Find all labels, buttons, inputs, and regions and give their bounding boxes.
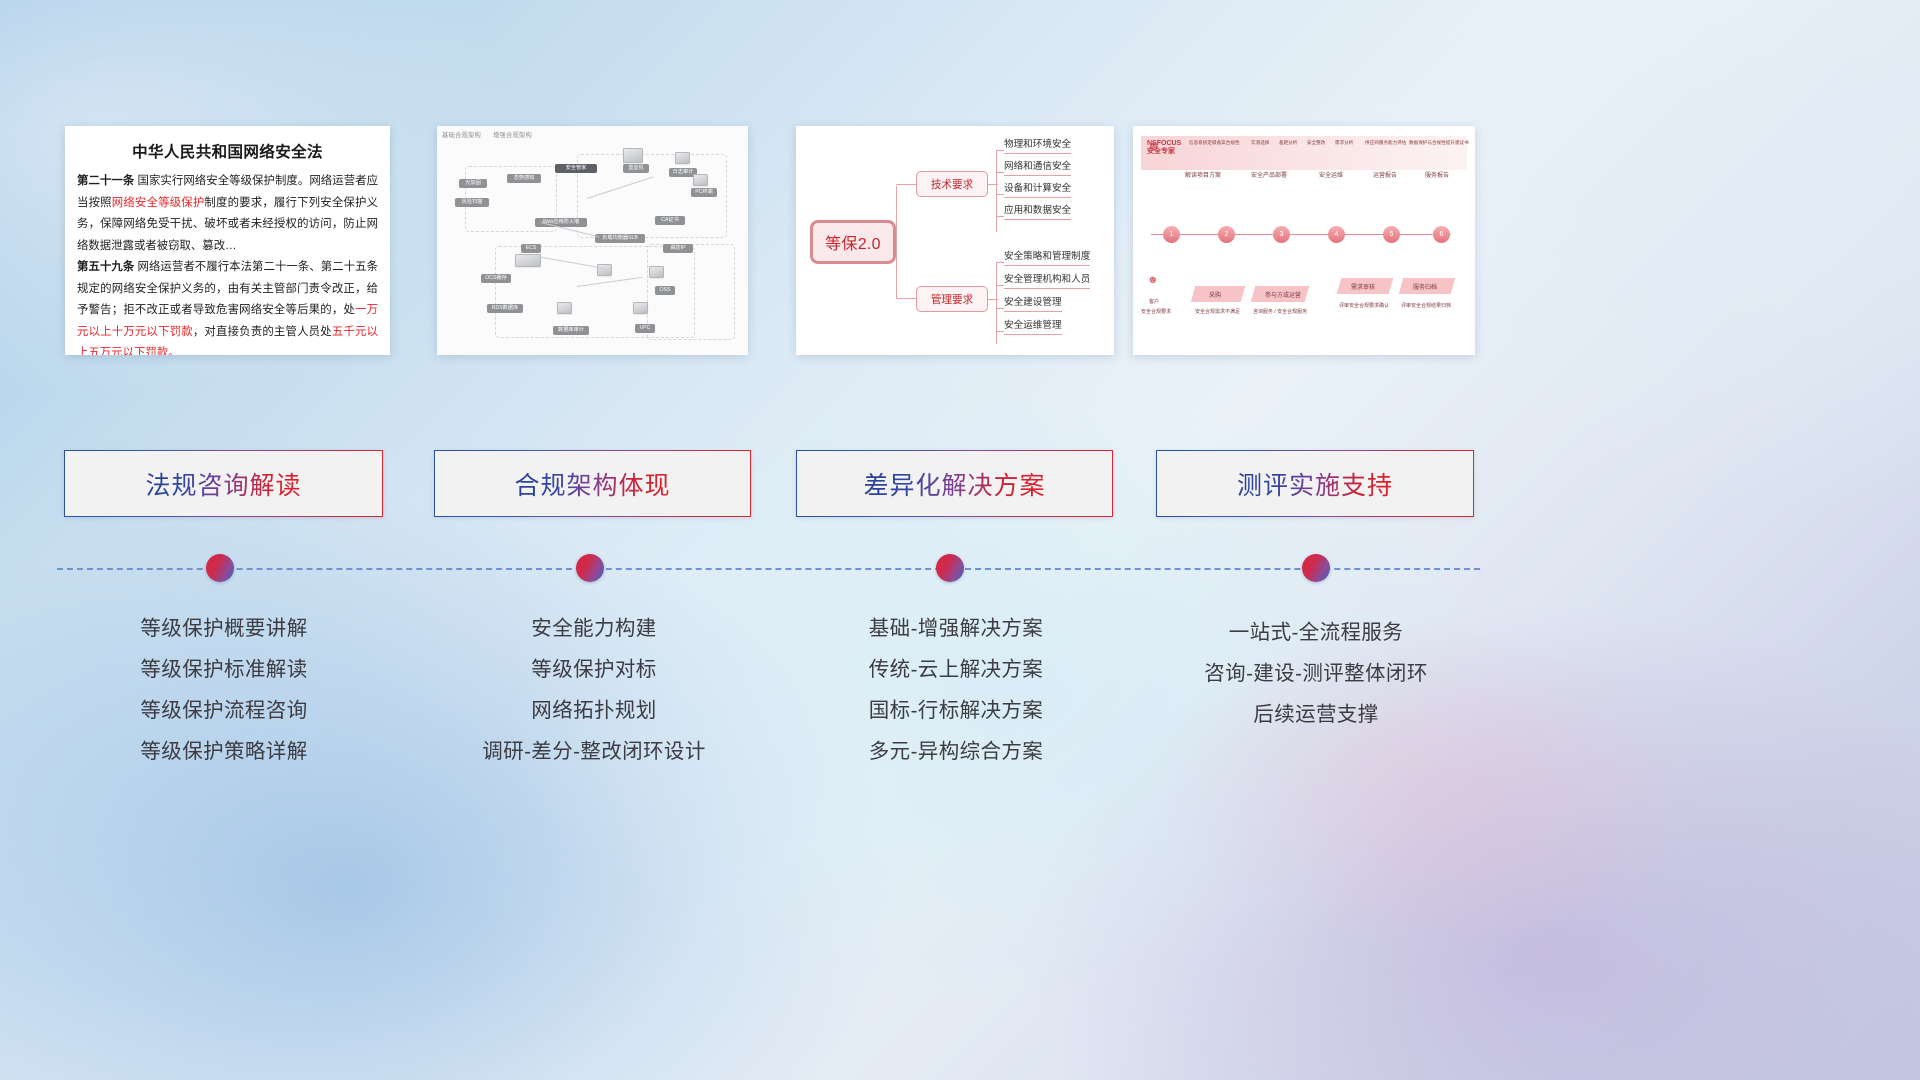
roadmap-bottom-left-4: 安全合规需求不满足	[1195, 308, 1240, 315]
mindmap-leaf-device-security: 设备和计算安全	[1004, 182, 1071, 198]
mindmap: 等保2.0 技术要求 管理要求 物理和环境安全 网络和通信安全 设备和计算安全 …	[796, 126, 1114, 355]
list-item: 传统-云上解决方案	[796, 649, 1116, 690]
pillar-button-compliance-architecture[interactable]: 合规架构体现	[434, 450, 751, 517]
list-item: 等级保护流程咨询	[64, 690, 384, 731]
mindmap-hook-mgmt-1	[996, 262, 1004, 263]
mindmap-connector-root-tech	[896, 186, 916, 242]
pillar-list-4: 一站式-全流程服务 咨询-建设-测评整体闭环 后续运营支撑	[1156, 612, 1476, 735]
architecture-node-ocs: OCS缓存	[481, 274, 511, 283]
architecture-diagram: 基础合规架构增强合规架构 安全管家 态势感知 光加固 风险扫描 Web应用防火墙…	[437, 126, 748, 355]
roadmap-bottom-right-1: 需求审核	[1351, 282, 1375, 291]
mindmap-leaf-physical-security: 物理和环境安全	[1004, 138, 1071, 154]
mindmap-leaf-application-security: 应用和数据安全	[1004, 204, 1071, 220]
roadmap-bottom-left-1: 客户	[1149, 298, 1159, 305]
mindmap-connector-tech-h	[896, 184, 916, 185]
architecture-node-vpc: VPC	[635, 324, 655, 333]
roadmap-bottom-left-6: 咨询服务 / 安全合规服务	[1253, 308, 1307, 315]
mindmap-hook-mgmt-branch	[988, 299, 998, 300]
architecture-node-hardening: 光加固	[459, 179, 487, 188]
architecture-server-icon-6	[649, 266, 664, 278]
list-item: 等级保护标准解读	[64, 649, 384, 690]
list-item: 后续运营支撑	[1156, 694, 1476, 735]
architecture-server-icon-2	[675, 152, 690, 164]
pillar-button-differentiated-solutions[interactable]: 差异化解决方案	[796, 450, 1113, 517]
pillar-button-label-4: 测评实施支持	[1237, 466, 1393, 502]
list-item: 多元-异构综合方案	[796, 731, 1116, 772]
mindmap-branch-technical: 技术要求	[916, 171, 988, 197]
mindmap-branch-management: 管理要求	[916, 286, 988, 312]
architecture-node-rds: RDS数据库	[487, 304, 523, 313]
architecture-node-antiddos: 高防IP	[663, 244, 693, 253]
mindmap-hook-mgmt-4	[996, 331, 1004, 332]
mindmap-hook-tech-1	[996, 150, 1004, 151]
roadmap-step-6: 6	[1433, 226, 1450, 243]
architecture-node-pc-terminal: PC终端	[691, 188, 717, 197]
mindmap-spine-technical	[996, 150, 997, 232]
roadmap-band-tag-4: 安全整改	[1307, 140, 1325, 146]
law-article-21-label: 第二十一条	[77, 175, 134, 187]
architecture-node-db-audit: 数据库审计	[553, 326, 589, 335]
pillar-button-regulation-consulting[interactable]: 法规咨询解读	[64, 450, 383, 517]
roadmap-step-1: 1	[1163, 226, 1180, 243]
pillar-list-3: 基础-增强解决方案 传统-云上解决方案 国标-行标解决方案 多元-异构综合方案	[796, 608, 1116, 772]
timeline-dot-4	[1302, 554, 1330, 582]
roadmap-step-2: 2	[1218, 226, 1235, 243]
roadmap-stage-label-2: 安全产品部署	[1251, 170, 1287, 179]
architecture-node-situational-awareness: 态势感知	[507, 174, 541, 183]
list-item: 网络拓扑规划	[434, 690, 754, 731]
mindmap-leaf-security-policy: 安全策略和管理制度	[1004, 250, 1090, 266]
roadmap-bottom-right-3: 评审安全合规要求确认	[1339, 302, 1389, 309]
mindmap-root-node: 等保2.0	[810, 220, 896, 264]
mindmap-leaf-construction-mgmt: 安全建设管理	[1004, 296, 1062, 312]
card-dengbao-mindmap: 等保2.0 技术要求 管理要求 物理和环境安全 网络和通信安全 设备和计算安全 …	[796, 126, 1114, 355]
roadmap-timeline-rail	[1151, 234, 1451, 235]
roadmap-band-tag-2: 实测选择	[1251, 140, 1269, 146]
law-paragraph-21: 第二十一条 国家实行网络安全等级保护制度。网络运营者应当按照网络安全等级保护制度…	[77, 171, 378, 257]
architecture-server-icon-8	[633, 302, 648, 314]
roadmap-bottom-right-2: 服务归档	[1413, 282, 1437, 291]
law-paragraph-59: 第五十九条 网络运营者不履行本法第二十一条、第二十五条规定的网络安全保护义务的，…	[77, 257, 378, 355]
roadmap-band-tag-1: 信息系统定级备案合规性	[1189, 140, 1240, 146]
mindmap-leaf-network-security: 网络和通信安全	[1004, 160, 1071, 176]
list-item: 等级保护对标	[434, 649, 754, 690]
nsfocus-logo-line1: NSFOCUS	[1147, 140, 1181, 148]
law-article-21-highlight: 网络安全等级保护	[112, 197, 205, 209]
list-item: 基础-增强解决方案	[796, 608, 1116, 649]
roadmap-step-3: 3	[1273, 226, 1290, 243]
pillar-button-label-2: 合规架构体现	[514, 466, 670, 502]
roadmap-diagram: ☻ NSFOCUS 安全专家 信息系统定级备案合规性 实测选择 差距分析 安全整…	[1133, 126, 1475, 355]
timeline-dot-2	[576, 554, 604, 582]
roadmap-stage-label-1: 解读项目方案	[1185, 170, 1221, 179]
list-item: 一站式-全流程服务	[1156, 612, 1476, 653]
pillar-list-1: 等级保护概要讲解 等级保护标准解读 等级保护流程咨询 等级保护策略详解	[64, 608, 384, 772]
law-title: 中华人民共和国网络安全法	[65, 140, 390, 162]
law-article-59-text-b: ，对直接负责的主管人员处	[193, 326, 332, 338]
pillar-button-label-3: 差异化解决方案	[863, 466, 1045, 502]
architecture-server-icon-3	[693, 174, 708, 186]
card-nsfocus-roadmap: ☻ NSFOCUS 安全专家 信息系统定级备案合规性 实测选择 差距分析 安全整…	[1133, 126, 1475, 355]
mindmap-connector-root-mgmt	[896, 242, 916, 299]
pillar-button-label-1: 法规咨询解读	[145, 466, 301, 502]
roadmap-band-tag-7: 数据保护与合规性提升建议书	[1409, 140, 1469, 146]
customer-person-icon: ☻	[1147, 274, 1159, 286]
mindmap-leaf-operations-mgmt: 安全运维管理	[1004, 319, 1062, 335]
roadmap-bottom-left-3: 采购	[1209, 290, 1221, 299]
mindmap-leaf-security-org: 安全管理机构和人员	[1004, 273, 1090, 289]
card-cybersecurity-law: 中华人民共和国网络安全法 第二十一条 国家实行网络安全等级保护制度。网络运营者应…	[65, 126, 390, 355]
pillar-list-2: 安全能力构建 等级保护对标 网络拓扑规划 调研-差分-整改闭环设计	[434, 608, 754, 772]
mindmap-hook-mgmt-3	[996, 308, 1004, 309]
architecture-header: 基础合规架构增强合规架构	[442, 130, 544, 139]
card-compliance-architecture: 基础合规架构增强合规架构 安全管家 态势感知 光加固 风险扫描 Web应用防火墙…	[437, 126, 748, 355]
mindmap-hook-tech-4	[996, 216, 1004, 217]
roadmap-bottom-left-2: 安全合规要求	[1141, 308, 1171, 315]
roadmap-step-4: 4	[1328, 226, 1345, 243]
mindmap-hook-tech-2	[996, 172, 1004, 173]
law-body: 第二十一条 国家实行网络安全等级保护制度。网络运营者应当按照网络安全等级保护制度…	[65, 171, 390, 355]
architecture-node-bastion: 堡垒机	[623, 164, 649, 173]
mindmap-connector-mgmt-h	[896, 298, 916, 299]
timeline-dashed-line	[57, 568, 1480, 570]
law-article-59-label: 第五十九条	[77, 261, 134, 273]
architecture-server-icon-7	[557, 302, 572, 314]
mindmap-hook-mgmt-2	[996, 285, 1004, 286]
roadmap-bottom-left-5: 参与方或运营	[1265, 290, 1301, 299]
timeline-dot-3	[936, 554, 964, 582]
list-item: 安全能力构建	[434, 608, 754, 649]
architecture-header-left: 基础合规架构	[442, 132, 481, 139]
mindmap-hook-tech-3	[996, 194, 1004, 195]
roadmap-band-tag-5: 需求分析	[1335, 140, 1353, 146]
architecture-server-icon-5	[597, 264, 612, 276]
roadmap-step-5: 5	[1383, 226, 1400, 243]
roadmap-bottom-right-4: 评审安全合规结果归档	[1401, 302, 1451, 309]
roadmap-band-tag-3: 差距分析	[1279, 140, 1297, 146]
roadmap-stage-label-4: 运营报告	[1373, 170, 1397, 179]
architecture-node-risk-scan: 风险扫描	[455, 198, 489, 207]
nsfocus-logo-line2: 安全专家	[1147, 148, 1181, 156]
roadmap-band-tag-6: 供应商服务能力评估	[1365, 140, 1406, 146]
architecture-node-security-manager: 安全管家	[555, 164, 597, 173]
architecture-header-right: 增强合规架构	[493, 132, 532, 139]
architecture-server-icon-1	[623, 148, 643, 163]
timeline-dot-1	[206, 554, 234, 582]
architecture-node-ca: CA证书	[655, 216, 685, 225]
list-item: 调研-差分-整改闭环设计	[434, 731, 754, 772]
list-item: 咨询-建设-测评整体闭环	[1156, 653, 1476, 694]
architecture-node-ecs: ECS	[521, 244, 541, 253]
architecture-node-oss: OSS	[655, 286, 675, 295]
roadmap-stage-label-3: 安全运维	[1319, 170, 1343, 179]
nsfocus-logo: NSFOCUS 安全专家	[1147, 140, 1181, 156]
list-item: 等级保护策略详解	[64, 731, 384, 772]
list-item: 等级保护概要讲解	[64, 608, 384, 649]
list-item: 国标-行标解决方案	[796, 690, 1116, 731]
mindmap-hook-tech-branch	[988, 184, 998, 185]
architecture-node-slb: 负载均衡器SLB	[595, 234, 645, 243]
roadmap-stage-label-5: 服务报告	[1425, 170, 1449, 179]
pillar-button-assessment-support[interactable]: 测评实施支持	[1156, 450, 1474, 517]
